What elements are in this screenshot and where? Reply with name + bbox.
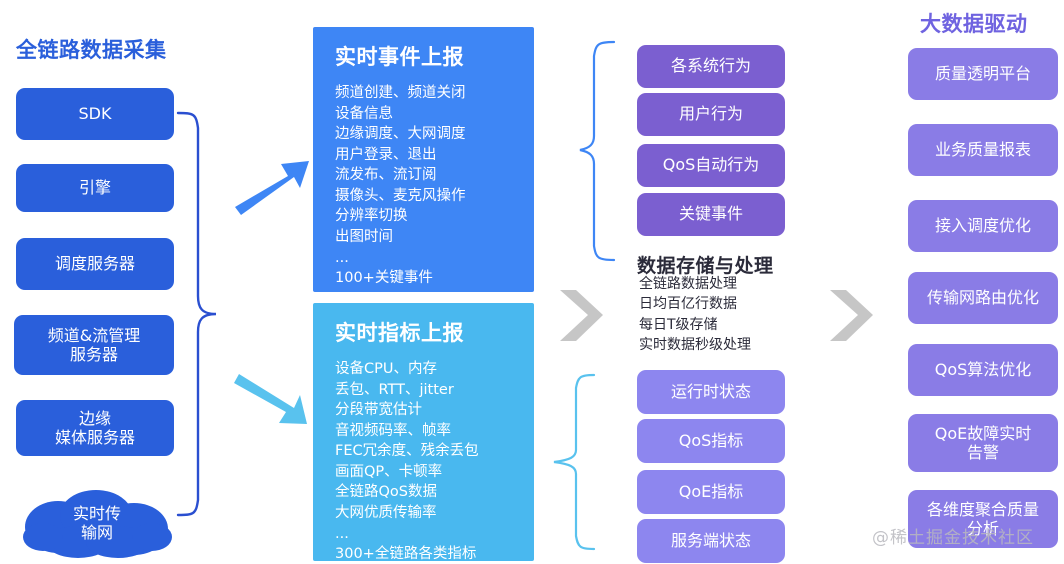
outcome-transport-routing-optimization[interactable]: 传输网路由优化 (908, 272, 1058, 324)
outcome-multidimension-aggregate-quality-analysis[interactable]: 各维度聚合质量 分析 (908, 490, 1058, 548)
diagram-canvas: 全链路数据采集 大数据驱动 数据存储与处理 SDK 引擎 调度服务器 频道&流管… (0, 0, 1064, 564)
node-sdk[interactable]: SDK (16, 88, 174, 140)
outcome-access-scheduling-optimization[interactable]: 接入调度优化 (908, 200, 1058, 252)
panel-event-item: ... (335, 248, 516, 269)
metric-type-label: QoE指标 (679, 483, 744, 502)
outcome-label: QoS算法优化 (935, 361, 1032, 380)
panel-realtime-event-reporting: 实时事件上报 频道创建、频道关闭 设备信息 边缘调度、大网调度 用户登录、退出 … (313, 27, 534, 292)
outcome-qoe-fault-realtime-alert[interactable]: QoE故障实时 告警 (908, 414, 1058, 472)
panel-metric-item: FEC冗余度、残余丢包 (335, 441, 516, 462)
outcome-label: 业务质量报表 (935, 141, 1031, 160)
node-realtime-transport-network[interactable]: 实时传 输网 (18, 487, 176, 559)
outcome-label: 接入调度优化 (935, 217, 1031, 236)
panel-metric-item: ... (335, 524, 516, 545)
panel-event-list: 频道创建、频道关闭 设备信息 边缘调度、大网调度 用户登录、退出 流发布、流订阅… (335, 83, 516, 289)
node-engine[interactable]: 引擎 (16, 164, 174, 212)
panel-event-item: 出图时间 (335, 227, 516, 248)
node-channel-stream-server[interactable]: 频道&流管理 服务器 (14, 315, 174, 375)
metric-type-qos[interactable]: QoS指标 (637, 419, 785, 463)
metric-type-label: 服务端状态 (671, 532, 751, 551)
outcome-qos-algorithm-optimization[interactable]: QoS算法优化 (908, 344, 1058, 396)
event-type-label: 各系统行为 (671, 57, 751, 76)
node-edge-media-server[interactable]: 边缘 媒体服务器 (16, 400, 174, 456)
right-column-heading: 大数据驱动 (920, 8, 1028, 38)
panel-metric-item: 300+全链路各类指标 (335, 544, 516, 564)
node-edge-media-server-line2: 媒体服务器 (55, 428, 135, 447)
cloud-line1: 实时传 (73, 504, 121, 523)
metric-types-brace (552, 372, 596, 554)
node-channel-stream-server-line1: 频道&流管理 (48, 326, 140, 345)
event-type-qos-auto-behavior[interactable]: QoS自动行为 (637, 144, 785, 187)
node-sdk-label: SDK (79, 105, 112, 124)
arrow-up-right-icon (232, 155, 312, 217)
panel-metric-item: 大网优质传输率 (335, 503, 516, 524)
metric-type-server-status[interactable]: 服务端状态 (637, 519, 785, 563)
panel-metric-item: 全链路QoS数据 (335, 482, 516, 503)
panel-event-item: 设备信息 (335, 104, 516, 125)
outcome-label-line1: 各维度聚合质量 (927, 500, 1039, 519)
outcome-quality-transparency-platform[interactable]: 质量透明平台 (908, 48, 1058, 100)
outcome-label-line1: QoE故障实时 (935, 424, 1032, 443)
metric-type-qoe[interactable]: QoE指标 (637, 470, 785, 514)
outcome-label-line2: 告警 (967, 443, 999, 462)
panel-event-item: 用户登录、退出 (335, 145, 516, 166)
panel-event-item: 流发布、流订阅 (335, 165, 516, 186)
storage-list: 全链路数据处理 日均百亿行数据 每日T级存储 实时数据秒级处理 (639, 274, 751, 355)
metric-type-label: QoS指标 (679, 432, 744, 451)
left-group-brace (176, 100, 238, 530)
chevron-right-icon-1 (556, 288, 604, 344)
panel-metric-item: 分段带宽估计 (335, 400, 516, 421)
panel-event-item: 分辨率切换 (335, 206, 516, 227)
panel-event-item: 摄像头、麦克风操作 (335, 186, 516, 207)
outcome-business-quality-report[interactable]: 业务质量报表 (908, 124, 1058, 176)
panel-metric-item: 设备CPU、内存 (335, 359, 516, 380)
chevron-right-icon-2 (826, 288, 874, 344)
storage-item: 实时数据秒级处理 (639, 335, 751, 355)
panel-metric-list: 设备CPU、内存 丢包、RTT、jitter 分段带宽估计 音视频码率、帧率 F… (335, 359, 516, 564)
event-type-key-event[interactable]: 关键事件 (637, 193, 785, 236)
node-scheduler-server-label: 调度服务器 (55, 255, 135, 274)
node-channel-stream-server-line2: 服务器 (70, 345, 118, 364)
node-scheduler-server[interactable]: 调度服务器 (16, 238, 174, 290)
panel-metric-title: 实时指标上报 (335, 317, 516, 347)
metric-type-label: 运行时状态 (671, 383, 751, 402)
outcome-label: 传输网路由优化 (927, 289, 1039, 308)
panel-metric-item: 音视频码率、帧率 (335, 421, 516, 442)
storage-item: 每日T级存储 (639, 315, 751, 335)
node-engine-label: 引擎 (79, 179, 111, 198)
panel-event-item: 频道创建、频道关闭 (335, 83, 516, 104)
node-edge-media-server-line1: 边缘 (79, 409, 111, 428)
panel-metric-item: 丢包、RTT、jitter (335, 380, 516, 401)
storage-item: 全链路数据处理 (639, 274, 751, 294)
cloud-line2: 输网 (81, 523, 113, 542)
event-types-brace (578, 38, 618, 264)
panel-event-item: 100+关键事件 (335, 268, 516, 289)
panel-metric-item: 画面QP、卡顿率 (335, 462, 516, 483)
panel-realtime-metric-reporting: 实时指标上报 设备CPU、内存 丢包、RTT、jitter 分段带宽估计 音视频… (313, 303, 534, 561)
outcome-label-line2: 分析 (967, 519, 999, 538)
event-type-label: 用户行为 (679, 105, 743, 124)
left-column-heading: 全链路数据采集 (16, 34, 167, 64)
outcome-label: 质量透明平台 (935, 65, 1031, 84)
node-realtime-transport-network-label: 实时传 输网 (18, 487, 176, 559)
event-type-user-behavior[interactable]: 用户行为 (637, 93, 785, 136)
arrow-down-right-icon (234, 370, 314, 432)
event-type-label: 关键事件 (679, 205, 743, 224)
panel-event-title: 实时事件上报 (335, 41, 516, 71)
storage-item: 日均百亿行数据 (639, 294, 751, 314)
event-type-system-behavior[interactable]: 各系统行为 (637, 45, 785, 88)
event-type-label: QoS自动行为 (663, 156, 760, 175)
panel-event-item: 边缘调度、大网调度 (335, 124, 516, 145)
metric-type-runtime-status[interactable]: 运行时状态 (637, 370, 785, 414)
